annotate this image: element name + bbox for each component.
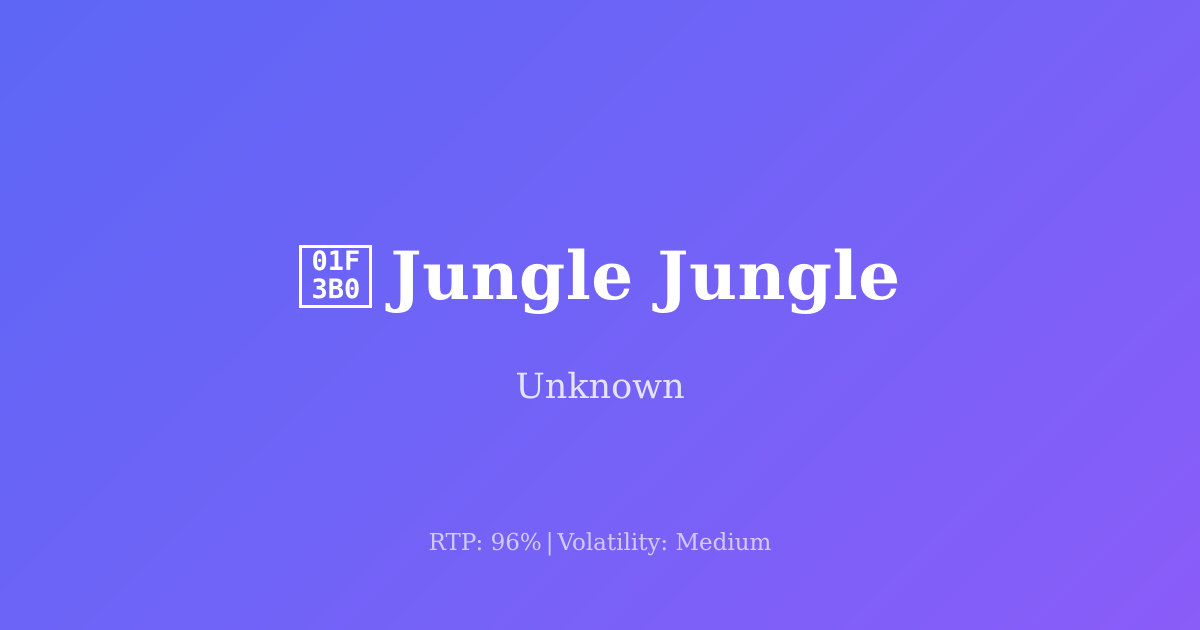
- slot-machine-icon: 01F 3B0: [299, 245, 372, 308]
- title-row: 01F 3B0 Jungle Jungle: [0, 236, 1200, 316]
- game-preview-card: 01F 3B0 Jungle Jungle Unknown RTP: 96%|V…: [0, 0, 1200, 630]
- volatility-label: Volatility: Medium: [557, 530, 771, 556]
- page-title: Jungle Jungle: [390, 236, 900, 316]
- provider-label: Unknown: [0, 363, 1200, 411]
- codepoint-high: 01F: [311, 248, 360, 276]
- stats-separator: |: [542, 530, 558, 556]
- stats-line: RTP: 96%|Volatility: Medium: [0, 527, 1200, 559]
- codepoint-low: 3B0: [311, 276, 360, 304]
- rtp-label: RTP: 96%: [429, 530, 542, 556]
